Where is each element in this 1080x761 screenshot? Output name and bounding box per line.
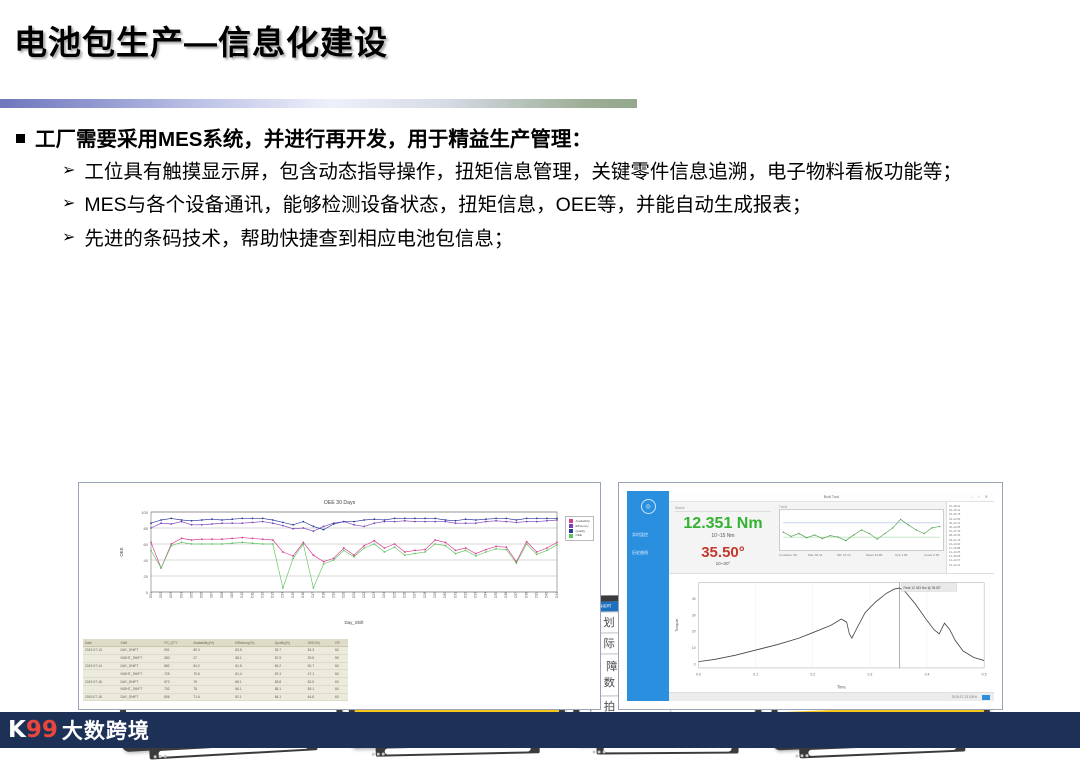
trend-stat: Cpk 1.68 [895,553,915,557]
svg-text:Peak 12.351 Nm @ 35.50°: Peak 12.351 Nm @ 35.50° [903,586,941,590]
app-logo-icon: ◎ [641,499,656,514]
svg-text:D10: D10 [240,592,244,598]
table-cell: NIGHT_SHIFT [119,685,163,693]
svg-text:D28: D28 [422,592,426,598]
table-cell: 60 [333,670,348,678]
measurement-list[interactable]: 01~48.4102~46.1203~45.7604~43.9205~44.11… [946,502,994,573]
torque-readout: Status 12.351 Nm 10~15 Nm 35.50° 10~30° [669,502,777,573]
table-header-row: DateShiftFG_QTYAvailability(%)Efficiency… [83,639,348,647]
app-main-area: Bolt Tool ‒ ▫ ✕ Status 12.351 Nm 10~15 N… [669,491,994,701]
table-cell: 88.1 [233,678,272,686]
table-cell: 60 [333,685,348,693]
table-cell: 2019-07-15 [83,678,119,686]
svg-text:D35: D35 [493,592,497,598]
svg-text:D21: D21 [351,592,355,598]
trend-stat: Count 2.53 [924,553,944,557]
table-cell: 60 [333,693,348,701]
table-cell: 85.1 [273,685,306,693]
trend-chart-box [779,509,944,551]
table-cell: 83.8 [273,678,306,686]
table-body: 2019-07-13DAY_SHIFT59169.383.592.754.360… [83,647,348,701]
table-cell: 92.7 [273,647,306,655]
table-cell: 47.1 [306,670,333,678]
svg-text:100: 100 [141,510,148,515]
page-title: 电池包生产—信息化建设 [14,16,388,64]
table-cell: 280 [162,654,191,662]
svg-text:0.1: 0.1 [753,672,758,676]
square-bullet-icon [16,134,25,143]
trend-stat: Mean 43.86 [866,553,886,557]
svg-text:D17: D17 [311,592,315,598]
column-header: FG_QTY [162,639,191,647]
table-cell: 64.8 [306,693,333,701]
bullet-level2-item: ➢ 工位具有触摸显示屏，包含动态指导操作，扭矩信息管理，关键零件信息追溯，电子物… [16,158,1066,186]
table-cell: 84.2 [273,662,306,670]
table-cell: NIGHT_SHIFT [119,670,163,678]
table-cell: 83.5 [233,647,272,655]
status-right-text: 2019-07-13 100% [952,695,977,699]
table-row[interactable]: NIGHT_SHIFT72570.581.487.447.160 [83,670,348,678]
table-cell: 27 [191,654,233,662]
torque-curve-section: 0102030400.00.10.20.30.40.5Peak 12.351 N… [669,574,994,692]
svg-text:0: 0 [694,662,696,666]
table-cell: 2019-07-16 [83,693,119,701]
table-cell: 59 [333,654,348,662]
table-cell: DAY_SHIFT [119,647,163,655]
angle-range: 10~30° [675,561,771,566]
trend-section: Trend Condition OKMax 48.41Min 37.12Mean… [777,502,946,573]
trend-stat: Min 37.12 [837,553,857,557]
table-cell: 57.9 [273,654,306,662]
svg-text:D19: D19 [331,592,335,598]
column-header: OEE(%) [306,639,333,647]
monitor-gallery: 模组器放置看板 M1-1已装配M1-2生产中M1-3已装配M1-4生产中M1-5… [0,296,1080,468]
svg-text:D23: D23 [372,592,376,598]
column-header: Shift [119,639,163,647]
footer-content: K99 大数跨境 [0,712,1080,748]
readout-label: Status [675,506,771,512]
table-cell: 87.4 [273,670,306,678]
table-cell: 81.5 [233,662,272,670]
bullet-level1-text: 工厂需要采用MES系统，并进行再开发，用于精益生产管理： [35,126,592,153]
app-readout-section: Status 12.351 Nm 10~15 Nm 35.50° 10~30° … [669,502,994,574]
table-cell: 55.1 [306,685,333,693]
table-cell [83,670,119,678]
bullet-level2-item: ➢ MES与各个设备通讯，能够检测设备状态，扭矩信息，OEE等，并能自动生成报表… [16,191,1066,219]
status-indicator [982,695,990,700]
table-cell: 60 [333,662,348,670]
svg-text:0.2: 0.2 [810,672,815,676]
table-cell: 54.3 [306,647,333,655]
table-cell: 86.1 [233,685,272,693]
svg-text:D34: D34 [483,592,487,598]
svg-text:D39: D39 [534,592,538,598]
table-cell: 50.7 [306,662,333,670]
svg-text:40: 40 [692,597,696,601]
table-cell: 71.6 [191,693,233,701]
column-header: Quality(%) [273,639,306,647]
table-cell: 82.1 [233,693,272,701]
svg-text:10: 10 [692,646,696,650]
svg-text:30: 30 [692,613,696,617]
svg-text:OEE: OEE [119,547,124,556]
svg-text:D33: D33 [473,592,477,598]
table-cell: 573 [162,678,191,686]
svg-text:0.3: 0.3 [867,672,872,676]
brand-logo-icon: K99 [8,717,58,743]
svg-text:D22: D22 [362,592,366,598]
svg-text:D30: D30 [443,592,447,598]
svg-text:20: 20 [692,630,696,634]
table-cell: DAY_SHIFT [119,662,163,670]
bullet-list: 工厂需要采用MES系统，并进行再开发，用于精益生产管理： ➢ 工位具有触摸显示屏… [16,126,1066,253]
svg-text:20: 20 [143,574,148,579]
svg-text:D27: D27 [412,592,416,598]
svg-text:D04: D04 [179,592,183,598]
table-cell: DAY_SHIFT [119,678,163,686]
svg-text:D36: D36 [504,592,508,598]
svg-text:D16: D16 [301,592,305,598]
svg-text:D12: D12 [260,592,264,598]
svg-text:D20: D20 [341,592,345,598]
table-cell: 70.5 [191,670,233,678]
svg-text:D38: D38 [524,592,528,598]
svg-text:D13: D13 [270,592,274,598]
sidebar-item-history[interactable]: 历史曲线 [627,544,669,562]
table-cell: 702 [162,685,191,693]
table-cell: 2019-07-13 [83,647,119,655]
torque-app-panel: ◎ 实时监控 历史曲线 Bolt Tool ‒ ▫ ✕ Status 12.35… [618,482,1003,710]
torque-app-window: ◎ 实时监控 历史曲线 Bolt Tool ‒ ▫ ✕ Status 12.35… [627,491,994,701]
svg-text:Torque: Torque [674,618,679,632]
bullet-level2-text: 工位具有触摸显示屏，包含动态指导操作，扭矩信息管理，关键零件信息追溯，电子物料看… [84,158,1066,186]
footer-bar: K99 大数跨境 [0,712,1080,748]
table-row[interactable]: 2019-07-14DAY_SHIFT88254.281.584.250.760 [83,662,348,670]
sidebar-item-live[interactable]: 实时监控 [627,526,669,544]
table-cell: 725 [162,670,191,678]
table-cell: 2019-07-14 [83,662,119,670]
table-cell: 60 [333,678,348,686]
svg-text:D08: D08 [219,592,223,598]
table-cell: 75 [191,678,233,686]
column-header: OP [333,639,348,647]
legend-entry: OEE [569,533,590,538]
svg-text:D07: D07 [209,592,213,598]
table-cell: 29.5 [306,654,333,662]
torque-value: 12.351 Nm [675,515,771,533]
svg-text:D37: D37 [514,592,518,598]
svg-text:60: 60 [143,542,148,547]
svg-text:D14: D14 [280,592,284,598]
oee-line-chart: 020406080100D01D02D03D04D05D06D07D08D09D… [115,506,565,626]
oee-data-table: DateShiftFG_QTYAvailability(%)Efficiency… [83,639,348,701]
table-cell: 81.4 [233,670,272,678]
oee-report-panel: OEE 30 Days 020406080100D01D02D03D04D05D… [78,482,601,710]
table-cell: 58.1 [233,654,272,662]
svg-text:Time: Time [837,685,846,690]
monitor-indicator-dots [795,754,808,758]
table-cell: 591 [162,647,191,655]
table-cell: 84.1 [273,693,306,701]
table-cell: 78 [191,685,233,693]
monitor-indicator-dots [371,753,384,756]
table-cell: 60 [333,647,348,655]
brand-name: 大数跨境 [62,715,150,745]
app-window-title: Bolt Tool [824,494,839,499]
table-cell: 806 [162,693,191,701]
svg-text:D31: D31 [453,592,457,598]
table-row[interactable]: NIGHT_SHIFT2802758.157.929.559 [83,654,348,662]
svg-text:D24: D24 [382,592,386,598]
table-row[interactable]: 2019-07-13DAY_SHIFT59169.383.592.754.360 [83,647,348,655]
svg-text:Day_Shift: Day_Shift [344,620,364,625]
table-cell: NIGHT_SHIFT [119,654,163,662]
svg-text:D40: D40 [544,592,548,598]
svg-text:D02: D02 [158,592,162,598]
svg-text:D15: D15 [290,592,294,598]
table-cell: 62.5 [306,678,333,686]
title-divider [0,99,637,108]
svg-text:D05: D05 [189,592,193,598]
column-header: Date [83,639,119,647]
oee-chart-title: OEE 30 Days [79,483,600,506]
column-header: Availability(%) [191,639,233,647]
svg-text:0.0: 0.0 [696,672,701,676]
table-cell: DAY_SHIFT [119,693,163,701]
table-cell: 882 [162,662,191,670]
window-controls[interactable]: ‒ ▫ ✕ [971,494,990,499]
table-row[interactable]: 2019-07-16DAY_SHIFT80671.682.184.164.860 [83,693,348,701]
svg-text:D01: D01 [148,592,152,598]
svg-text:D26: D26 [402,592,406,598]
svg-text:80: 80 [143,526,148,531]
monitor-indicator-dots [592,750,605,753]
oee-chart-legend: AvailabilityEfficiencyQualityOEE [565,516,594,541]
trend-stat: Condition OK [779,553,799,557]
arrow-bullet-icon: ➢ [62,225,75,251]
bullet-level2-text: 先进的条码技术，帮助快捷查到相应电池包信息； [84,225,1066,253]
trend-line-chart [780,510,943,550]
app-titlebar: Bolt Tool ‒ ▫ ✕ [669,491,994,502]
table-row[interactable]: 2019-07-15DAY_SHIFT5737588.183.862.560 [83,678,348,686]
table-cell: 69.3 [191,647,233,655]
table-cell [83,654,119,662]
svg-text:D09: D09 [230,592,234,598]
svg-text:0.4: 0.4 [925,672,930,676]
svg-text:40: 40 [143,558,148,563]
angle-value: 35.50° [675,544,771,561]
torque-curve-chart: 0102030400.00.10.20.30.40.5Peak 12.351 N… [669,574,994,692]
column-header: Efficiency(%) [233,639,272,647]
app-sidebar: ◎ 实时监控 历史曲线 [627,491,669,701]
svg-text:D11: D11 [250,592,254,598]
svg-text:D18: D18 [321,592,325,598]
trend-stat: Max 48.41 [808,553,828,557]
svg-text:D03: D03 [169,592,173,598]
arrow-bullet-icon: ➢ [62,191,75,217]
bullet-level1: 工厂需要采用MES系统，并进行再开发，用于精益生产管理： [16,126,1066,153]
table-cell [83,685,119,693]
table-row[interactable]: NIGHT_SHIFT7027886.185.155.160 [83,685,348,693]
svg-text:D06: D06 [199,592,203,598]
svg-text:D32: D32 [463,592,467,598]
svg-text:D29: D29 [433,592,437,598]
arrow-bullet-icon: ➢ [62,158,75,184]
torque-range: 10~15 Nm [675,533,771,539]
measurement-list-item[interactable]: 15~44.31 [949,564,992,568]
svg-text:D41: D41 [554,592,558,598]
app-statusbar: 2019-07-13 100% [669,692,994,701]
bullet-level2-item: ➢ 先进的条码技术，帮助快捷查到相应电池包信息； [16,225,1066,253]
table-cell: 54.2 [191,662,233,670]
svg-text:D25: D25 [392,592,396,598]
svg-text:0.5: 0.5 [982,672,987,676]
bullet-level2-text: MES与各个设备通讯，能够检测设备状态，扭矩信息，OEE等，并能自动生成报表； [84,191,1066,219]
